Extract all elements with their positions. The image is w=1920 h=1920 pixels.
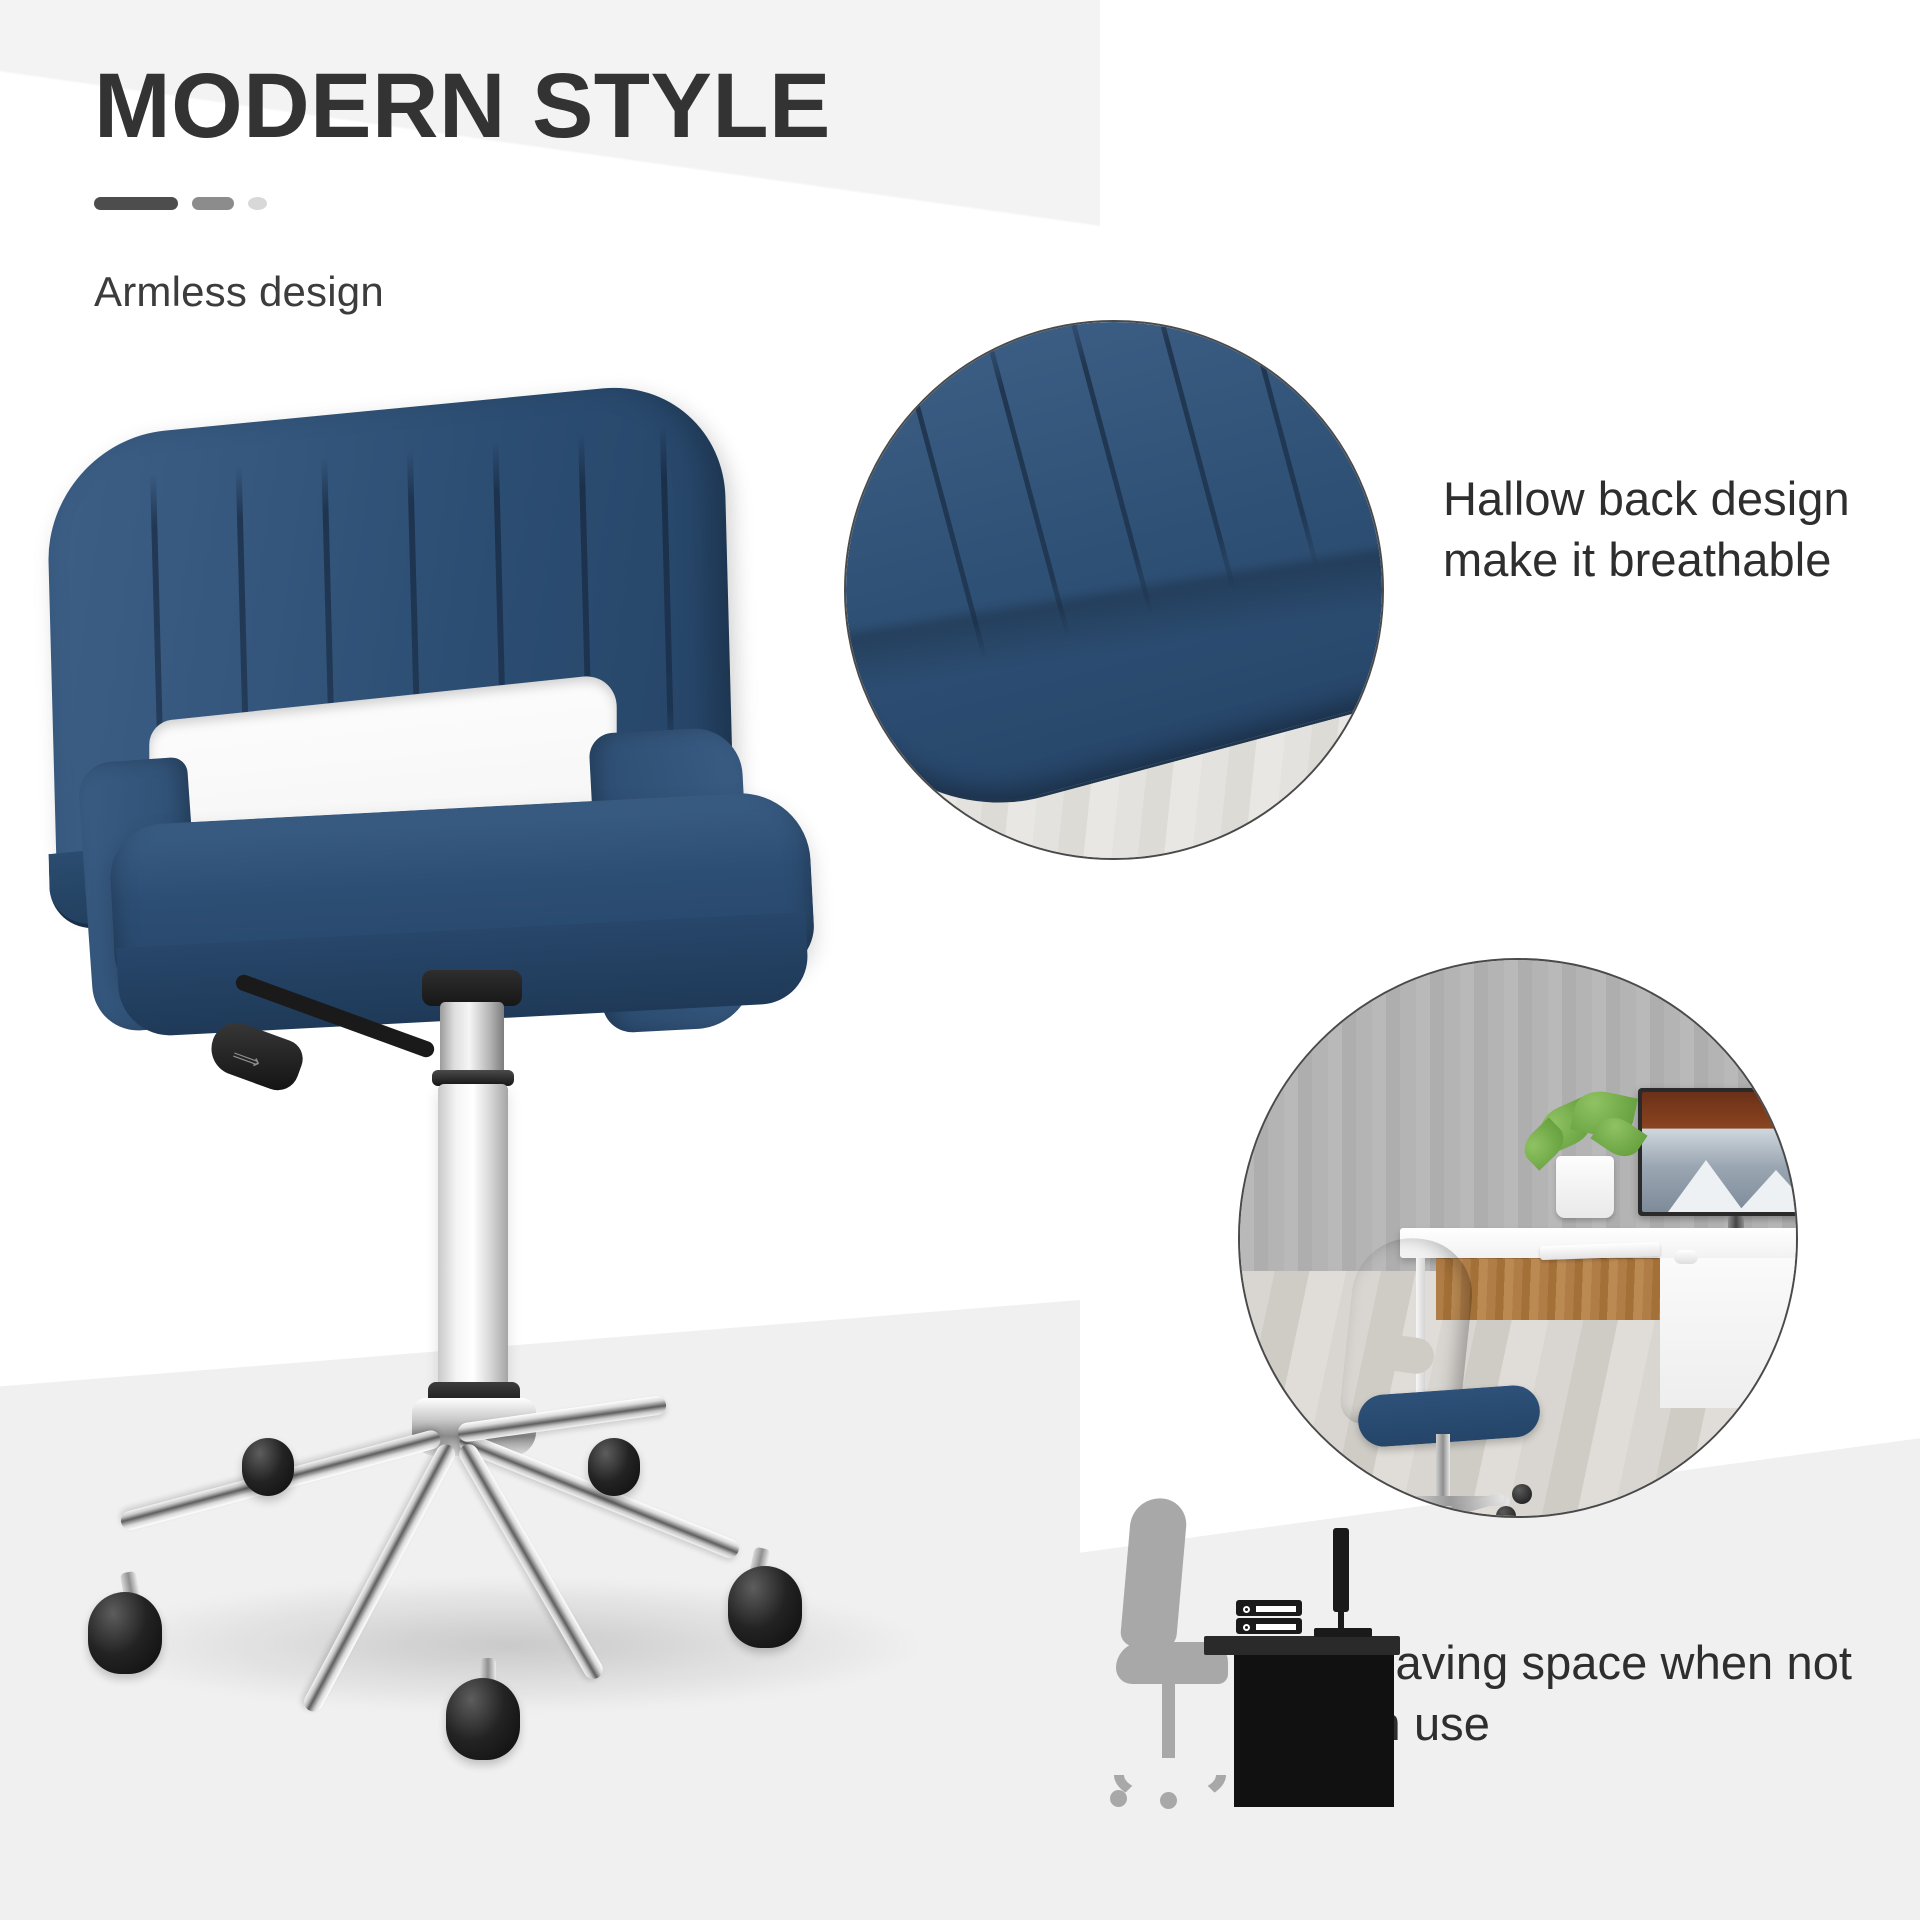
room-desk-cabinet <box>1660 1258 1798 1408</box>
dash-long <box>94 197 178 210</box>
icon-binder <box>1236 1618 1302 1634</box>
dash-medium <box>192 197 234 210</box>
chair-gas-cylinder-top <box>440 1002 504 1076</box>
icon-chair-backrest <box>1120 1496 1189 1650</box>
chair-caster <box>242 1438 294 1496</box>
room-plant-pot <box>1556 1156 1614 1218</box>
chair-seat-mount <box>422 970 522 1006</box>
chair-caster <box>446 1678 520 1760</box>
icon-chair-cylinder <box>1162 1680 1175 1758</box>
room-monitor <box>1638 1088 1798 1216</box>
icon-monitor-panel <box>1333 1528 1349 1612</box>
caption-hollow-back: Hallow back design make it breathable <box>1443 468 1873 590</box>
chair-gas-cylinder <box>438 1084 508 1394</box>
icon-desk-body <box>1234 1655 1394 1807</box>
dash-dot <box>248 197 267 210</box>
page-title: MODERN STYLE <box>94 58 1094 155</box>
icon-chair-caster <box>1110 1790 1127 1807</box>
room-mouse <box>1674 1250 1698 1264</box>
icon-binder <box>1236 1600 1302 1616</box>
saving-space-icon <box>1108 1490 1528 1870</box>
chair-caster <box>88 1592 162 1674</box>
chair-caster <box>728 1566 802 1648</box>
icon-monitor-base <box>1314 1628 1372 1637</box>
room-monitor-screen <box>1642 1092 1798 1212</box>
page-subtitle: Armless design <box>94 268 1094 316</box>
chair-caster <box>588 1438 640 1496</box>
decorative-dash-group <box>94 197 1094 210</box>
header-block: MODERN STYLE Armless design <box>94 58 1094 316</box>
inset-room-scene <box>1238 958 1798 1518</box>
icon-chair-caster <box>1160 1792 1177 1809</box>
icon-desk-top <box>1204 1636 1400 1655</box>
main-product-image: ⟹ <box>40 430 980 1830</box>
